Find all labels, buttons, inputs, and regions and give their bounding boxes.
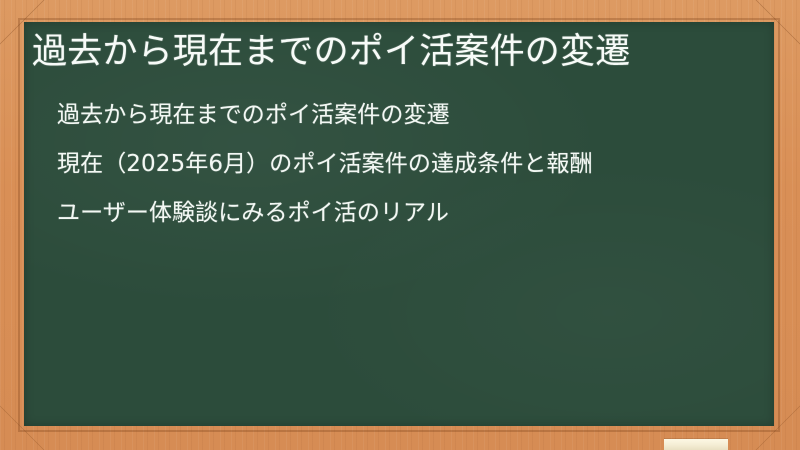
topic-list: 過去から現在までのポイ活案件の変遷 現在（2025年6月）のポイ活案件の達成条件… xyxy=(57,100,746,229)
list-item: 過去から現在までのポイ活案件の変遷 xyxy=(57,100,746,131)
list-item: 現在（2025年6月）のポイ活案件の達成条件と報酬 xyxy=(57,149,746,180)
list-item: ユーザー体験談にみるポイ活のリアル xyxy=(57,198,746,229)
chalkboard-surface: 過去から現在までのポイ活案件の変遷 過去から現在までのポイ活案件の変遷 現在（2… xyxy=(24,22,774,426)
chalkboard-slide: 過去から現在までのポイ活案件の変遷 過去から現在までのポイ活案件の変遷 現在（2… xyxy=(0,0,800,450)
chalk-stick-icon xyxy=(664,439,728,450)
page-title: 過去から現在までのポイ活案件の変遷 xyxy=(32,28,764,76)
